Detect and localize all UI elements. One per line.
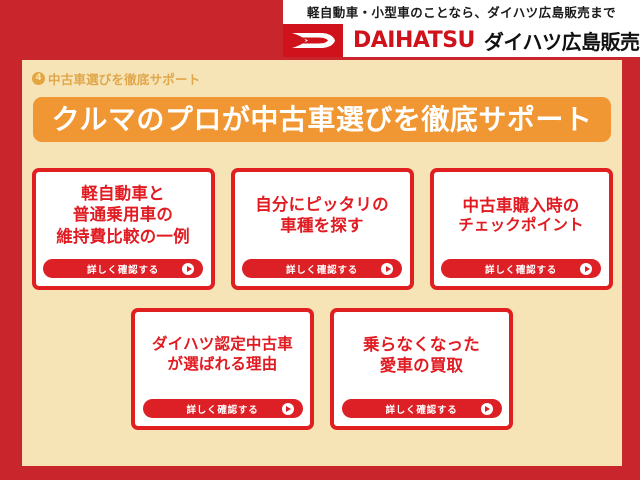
play-arrow-icon: [381, 263, 393, 275]
card-used-car-checkpoints[interactable]: 中古車購入時の チェックポイント 詳しく確認する: [430, 168, 613, 290]
detail-button-label: 詳しく確認する: [87, 262, 159, 276]
detail-button[interactable]: 詳しく確認する: [143, 399, 303, 418]
card-title: 軽自動車と 普通乗用車の 維持費比較の一例: [42, 176, 205, 254]
card-row-top: 軽自動車と 普通乗用車の 維持費比較の一例 詳しく確認する 自分にピッタリの 車…: [31, 168, 613, 290]
detail-button-label: 詳しく確認する: [286, 262, 358, 276]
detail-button[interactable]: 詳しく確認する: [441, 259, 601, 278]
card-title-line: 車種を探す: [280, 215, 364, 236]
detail-button-label: 詳しく確認する: [385, 402, 457, 416]
header-band: 軽自動車・小型車のことなら、ダイハツ広島販売まで DAIHATSU ダイハツ広島…: [283, 0, 640, 57]
play-arrow-icon: [182, 263, 194, 275]
card-title-line: 自分にピッタリの: [255, 194, 389, 215]
card-title: ダイハツ認定中古車 が選ばれる理由: [141, 316, 304, 394]
card-title-line: 中古車購入時の: [463, 195, 580, 216]
card-find-your-model[interactable]: 自分にピッタリの 車種を探す 詳しく確認する: [231, 168, 414, 290]
card-title: 乗らなくなった 愛車の買取: [340, 316, 503, 394]
detail-button[interactable]: 詳しく確認する: [242, 259, 402, 278]
play-arrow-icon: [481, 403, 493, 415]
dealer-name: ダイハツ広島販売: [484, 26, 640, 55]
step-number-badge: 4: [32, 72, 45, 85]
page-root: 軽自動車・小型車のことなら、ダイハツ広島販売まで DAIHATSU ダイハツ広島…: [0, 0, 640, 480]
card-car-buyback[interactable]: 乗らなくなった 愛車の買取 詳しく確認する: [330, 308, 513, 430]
detail-button-label: 詳しく確認する: [186, 402, 258, 416]
card-title-line: 乗らなくなった: [363, 334, 480, 355]
detail-button[interactable]: 詳しく確認する: [43, 259, 203, 278]
card-title: 中古車購入時の チェックポイント: [440, 176, 603, 254]
card-row-bottom: ダイハツ認定中古車 が選ばれる理由 詳しく確認する 乗らなくなった 愛車の買取 …: [31, 308, 613, 430]
headline-bar: クルマのプロが中古車選びを徹底サポート: [33, 97, 611, 142]
card-title-line: ダイハツ認定中古車: [152, 335, 293, 355]
card-maintenance-cost-comparison[interactable]: 軽自動車と 普通乗用車の 維持費比較の一例 詳しく確認する: [32, 168, 215, 290]
card-title-line: 普通乗用車の: [73, 204, 173, 225]
daihatsu-d-mark-icon: [283, 24, 343, 57]
section-tab-label: 中古車選びを徹底サポート: [48, 69, 200, 88]
section-tab: 4 中古車選びを徹底サポート: [32, 69, 200, 87]
card-title: 自分にピッタリの 車種を探す: [241, 176, 404, 254]
card-title-line: 維持費比較の一例: [56, 226, 190, 247]
play-arrow-icon: [282, 403, 294, 415]
card-title-line: が選ばれる理由: [168, 355, 278, 375]
header-tagline: 軽自動車・小型車のことなら、ダイハツ広島販売まで: [289, 3, 634, 23]
card-certified-used-car-reasons[interactable]: ダイハツ認定中古車 が選ばれる理由 詳しく確認する: [131, 308, 314, 430]
detail-button[interactable]: 詳しく確認する: [342, 399, 502, 418]
card-title-line: チェックポイント: [458, 216, 584, 236]
card-title-line: 愛車の買取: [380, 355, 464, 376]
headline-text: クルマのプロが中古車選びを徹底サポート: [52, 106, 593, 134]
detail-button-label: 詳しく確認する: [485, 262, 557, 276]
play-arrow-icon: [580, 263, 592, 275]
brand-wordmark: DAIHATSU: [353, 28, 475, 53]
content-panel: 4 中古車選びを徹底サポート クルマのプロが中古車選びを徹底サポート 軽自動車と…: [22, 60, 622, 466]
header-logo-row: DAIHATSU ダイハツ広島販売: [283, 24, 640, 57]
card-title-line: 軽自動車と: [81, 183, 165, 204]
